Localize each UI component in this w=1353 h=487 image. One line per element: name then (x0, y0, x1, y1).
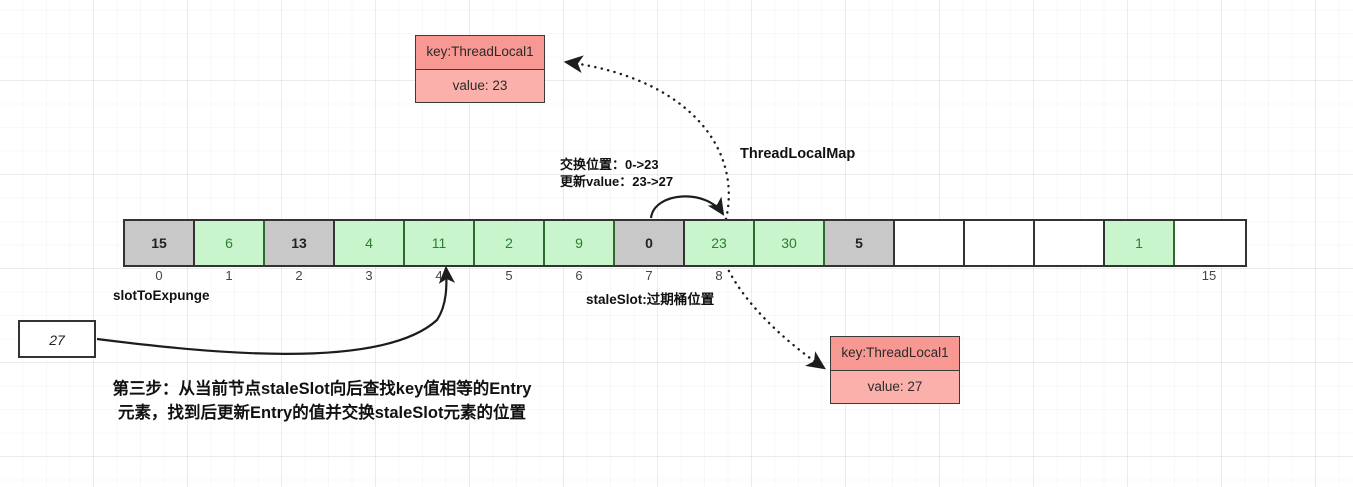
entry-bottom-value: value: 27 (830, 370, 960, 404)
step-caption: 第三步：从当前节点staleSlot向后查找key值相等的Entry元素，找到后… (112, 377, 532, 425)
slot-to-expunge-label: slotToExpunge (113, 288, 210, 303)
array-index-label-3: 3 (334, 268, 404, 283)
array-index-label-4: 4 (404, 268, 474, 283)
entry-bottom-key: key:ThreadLocal1 (830, 336, 960, 370)
entry-box-top: Entry key:ThreadLocal1 value: 23 (415, 35, 545, 103)
array-index-label-8: 8 (684, 268, 754, 283)
array-cell-14: 1 (1105, 221, 1175, 265)
array-cell-3: 4 (335, 221, 405, 265)
swap-note-line-1: 交换位置：0->23 (560, 156, 720, 173)
array-cell-1: 6 (195, 221, 265, 265)
array-cell-7: 0 (615, 221, 685, 265)
array-index-label-7: 7 (614, 268, 684, 283)
array-cell-6: 9 (545, 221, 615, 265)
entry-top-key: key:ThreadLocal1 (415, 35, 545, 69)
stale-slot-label: staleSlot:过期桶位置 (586, 288, 714, 308)
array-cell-8: 23 (685, 221, 755, 265)
array-cell-2: 13 (265, 221, 335, 265)
array-cell-11 (895, 221, 965, 265)
incoming-value-box: 27 (18, 320, 96, 358)
entry-box-bottom: Entry key:ThreadLocal1 value: 27 (830, 336, 960, 404)
array-index-label-1: 1 (194, 268, 264, 283)
array-cell-13 (1035, 221, 1105, 265)
hash-table-array: 15613411290233051 (123, 219, 1247, 267)
threadlocalmap-label: ThreadLocalMap (740, 146, 855, 162)
array-cell-4: 11 (405, 221, 475, 265)
array-cell-10: 5 (825, 221, 895, 265)
swap-note-line-2: 更新value：23->27 (560, 173, 720, 190)
array-cell-15 (1175, 221, 1245, 265)
entry-top-value: value: 23 (415, 69, 545, 103)
array-index-label-6: 6 (544, 268, 614, 283)
array-index-label-5: 5 (474, 268, 544, 283)
array-index-label-2: 2 (264, 268, 334, 283)
swap-note: 交换位置：0->23 更新value：23->27 (560, 156, 720, 190)
array-cell-9: 30 (755, 221, 825, 265)
array-cell-0: 15 (125, 221, 195, 265)
array-cell-5: 2 (475, 221, 545, 265)
array-cell-12 (965, 221, 1035, 265)
array-index-label-0: 0 (124, 268, 194, 283)
array-index-label-15: 15 (1174, 268, 1244, 283)
